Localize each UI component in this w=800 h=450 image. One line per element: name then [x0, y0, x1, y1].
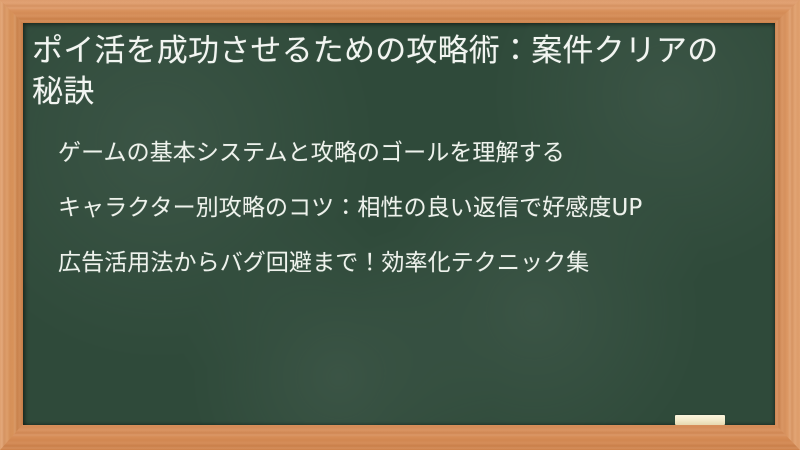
chalkboard-content: ポイ活を成功させるための攻略術：案件クリアの秘訣 ゲームの基本システムと攻略のゴ… [23, 23, 775, 425]
frame-rail-left [0, 0, 23, 450]
list-item: ゲームの基本システムと攻略のゴールを理解する [58, 137, 730, 170]
chalkboard-surface: ポイ活を成功させるための攻略術：案件クリアの秘訣 ゲームの基本システムと攻略のゴ… [23, 23, 775, 425]
frame-rail-right [775, 0, 800, 450]
frame-rail-bottom-ledge [0, 424, 800, 450]
list-item: キャラクター別攻略のコツ：相性の良い返信で好感度UP [58, 192, 730, 225]
list-item: 広告活用法からバグ回避まで！効率化テクニック集 [58, 247, 730, 280]
page-title: ポイ活を成功させるための攻略術：案件クリアの秘訣 [32, 31, 737, 113]
wood-grain-texture-left [0, 0, 23, 450]
chalk-eraser-icon [675, 415, 725, 425]
wood-grain-texture-top [0, 0, 800, 23]
outline-list: ゲームの基本システムと攻略のゴールを理解する キャラクター別攻略のコツ：相性の良… [32, 137, 761, 279]
wood-grain-texture-right [775, 0, 800, 450]
wood-grain-texture-bottom [0, 424, 800, 450]
chalkboard-card: ポイ活を成功させるための攻略術：案件クリアの秘訣 ゲームの基本システムと攻略のゴ… [0, 0, 800, 450]
frame-rail-top [0, 0, 800, 23]
